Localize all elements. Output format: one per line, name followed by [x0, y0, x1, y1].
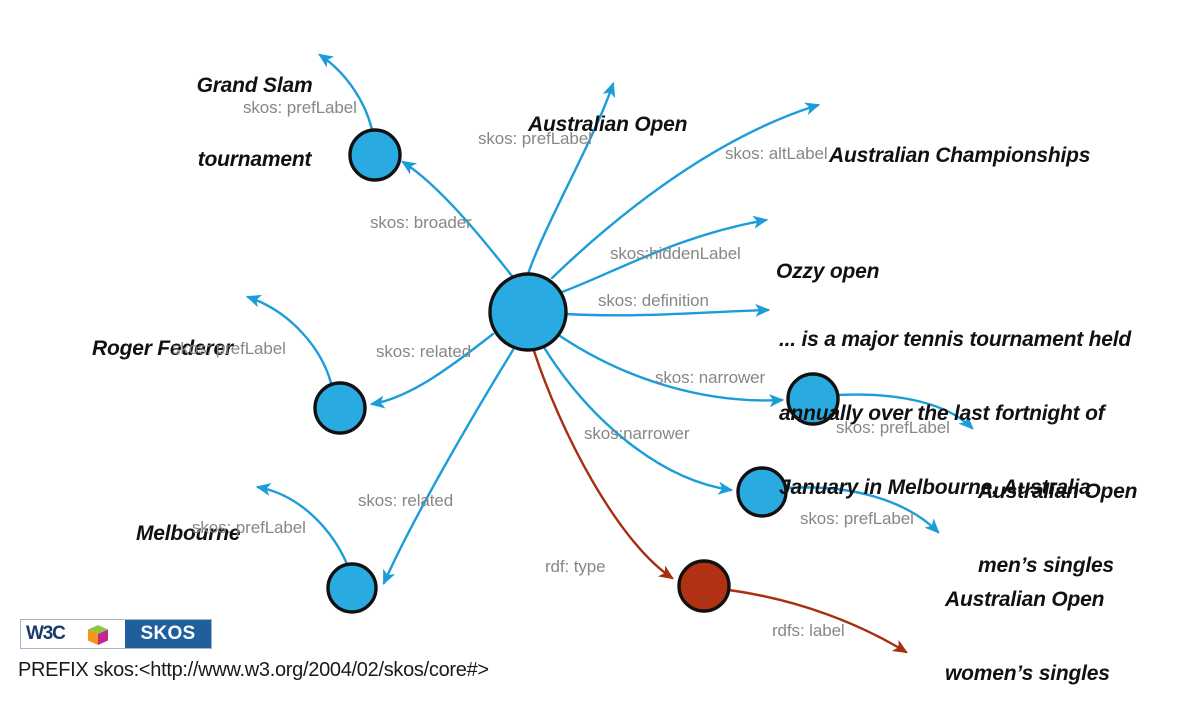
- edge-label-preflabel-grandslam: skos: prefLabel: [243, 98, 357, 118]
- w3c-skos-logo: W3C SKOS: [20, 619, 212, 649]
- node-class-skos-concept[interactable]: [679, 561, 729, 611]
- node-concept-grand-slam[interactable]: [350, 130, 400, 180]
- edge-label-preflabel-womens: skos: prefLabel: [800, 509, 914, 529]
- edge-preflabel-grandslam: [320, 55, 372, 130]
- node-concept-roger-federer[interactable]: [315, 383, 365, 433]
- logo-w3c-section: W3C: [21, 620, 125, 648]
- edge-label-altlabel: skos: altLabel: [725, 144, 828, 164]
- literal-australian-championships: Australian Championships: [829, 94, 1129, 218]
- edge-label-narrower-womens: skos:narrower: [584, 424, 689, 444]
- edge-label-preflabel-federer: skos: prefLabel: [172, 339, 286, 359]
- node-concept-melbourne[interactable]: [328, 564, 376, 612]
- literal-grand-slam-tournament: Grand Slam tournament: [192, 24, 317, 222]
- edge-label-preflabel-australian-open: skos: prefLabel: [478, 129, 592, 149]
- logo-w3c-text: W3C: [21, 623, 65, 645]
- logo-skos-section: SKOS: [125, 620, 211, 648]
- edge-label-hiddenlabel: skos:hiddenLabel: [610, 244, 741, 264]
- literal-australian-open: Australian Open: [528, 63, 728, 187]
- edge-label-definition: skos: definition: [598, 291, 709, 311]
- skos-diagram-canvas: Grand Slam tournament Australian Open Au…: [0, 0, 1200, 708]
- edge-label-rdf-type: rdf: type: [545, 557, 606, 577]
- literal-line: Australian Open: [945, 588, 1155, 613]
- edge-label-preflabel-mens: skos: prefLabel: [836, 418, 950, 438]
- literal-line: Australian Championships: [829, 144, 1129, 169]
- literal-line: ... is a major tennis tournament held: [779, 328, 1179, 353]
- edge-rdf-type: [534, 351, 672, 578]
- edge-related-melbourne: [384, 350, 513, 583]
- literal-line: Grand Slam: [192, 74, 317, 99]
- edge-label-related-melbourne: skos: related: [358, 491, 453, 511]
- skos-cube-icon: [87, 625, 109, 645]
- prefix-declaration: PREFIX skos:<http://www.w3.org/2004/02/s…: [18, 659, 489, 682]
- edge-label-related-federer: skos: related: [376, 342, 471, 362]
- node-concept-australian-open[interactable]: [490, 274, 566, 350]
- logo-skos-text: SKOS: [140, 623, 195, 645]
- edge-label-preflabel-melbourne: skos: prefLabel: [192, 518, 306, 538]
- edge-label-narrower-mens: skos: narrower: [655, 368, 765, 388]
- edge-label-rdfs-label: rdfs: label: [772, 621, 845, 641]
- literal-concept: Concept: [918, 657, 1038, 708]
- edge-label-broader: skos: broader: [370, 213, 472, 233]
- literal-line: tournament: [192, 148, 317, 173]
- literal-line: Australian Open: [978, 480, 1178, 505]
